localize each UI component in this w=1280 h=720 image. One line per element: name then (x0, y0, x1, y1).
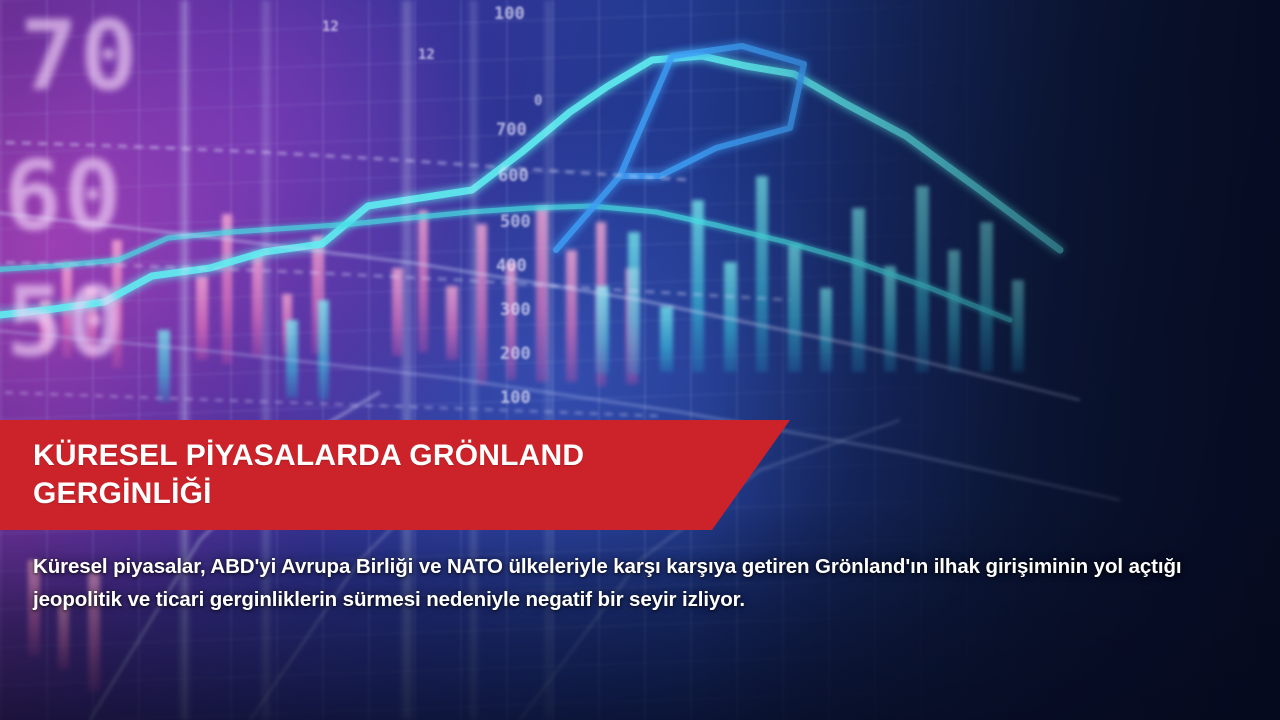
headline-line-1: KÜRESEL PİYASALARDA GRÖNLAND (33, 437, 800, 475)
article-deck: Küresel piyasalar, ABD'yi Avrupa Birliği… (33, 550, 1248, 616)
deck-text: Küresel piyasalar, ABD'yi Avrupa Birliği… (33, 550, 1248, 616)
headline-line-2: GERGİNLİĞİ (33, 475, 800, 513)
headline-banner: KÜRESEL PİYASALARDA GRÖNLAND GERGİNLİĞİ (0, 420, 800, 530)
news-card: 70 60 50 12 100 12 0 700 600 500 400 300… (0, 0, 1280, 720)
